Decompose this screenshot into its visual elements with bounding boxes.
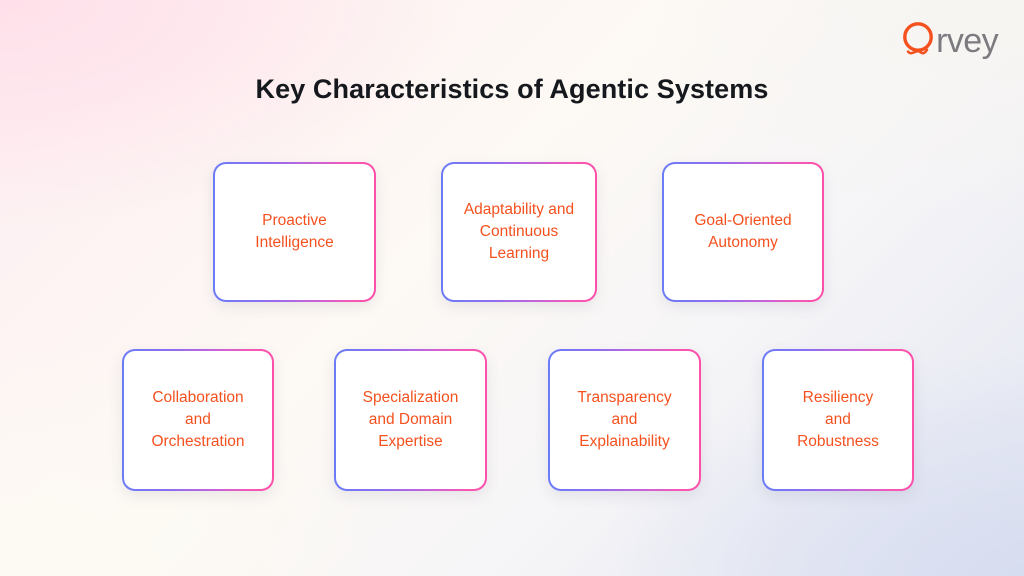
card-body: Proactive Intelligence [215, 164, 374, 300]
card-label: Resiliency and Robustness [797, 387, 879, 453]
card-body: Transparency and Explainability [550, 351, 699, 489]
characteristic-card-transparency-explainability[interactable]: Transparency and Explainability [548, 349, 701, 491]
characteristic-card-adaptability-continuous-learning[interactable]: Adaptability and Continuous Learning [441, 162, 597, 302]
characteristic-card-collaboration-orchestration[interactable]: Collaboration and Orchestration [122, 349, 274, 491]
qrvey-logo: rvey [899, 18, 998, 62]
characteristic-card-specialization-domain-expertise[interactable]: Specialization and Domain Expertise [334, 349, 487, 491]
qrvey-logo-wordmark: rvey [936, 24, 998, 58]
card-label: Proactive Intelligence [255, 210, 333, 254]
slide-canvas: rvey Key Characteristics of Agentic Syst… [0, 0, 1024, 576]
qrvey-q-icon [899, 18, 939, 62]
card-label: Collaboration and Orchestration [151, 387, 244, 453]
card-body: Resiliency and Robustness [764, 351, 912, 489]
card-body: Adaptability and Continuous Learning [443, 164, 595, 300]
characteristic-card-resiliency-robustness[interactable]: Resiliency and Robustness [762, 349, 914, 491]
card-label: Adaptability and Continuous Learning [464, 199, 574, 265]
card-body: Goal-Oriented Autonomy [664, 164, 822, 300]
card-body: Collaboration and Orchestration [124, 351, 272, 489]
page-title: Key Characteristics of Agentic Systems [0, 74, 1024, 105]
characteristic-card-goal-oriented-autonomy[interactable]: Goal-Oriented Autonomy [662, 162, 824, 302]
card-body: Specialization and Domain Expertise [336, 351, 485, 489]
characteristic-card-proactive-intelligence[interactable]: Proactive Intelligence [213, 162, 376, 302]
card-label: Goal-Oriented Autonomy [694, 210, 791, 254]
card-label: Transparency and Explainability [577, 387, 671, 453]
card-label: Specialization and Domain Expertise [363, 387, 459, 453]
